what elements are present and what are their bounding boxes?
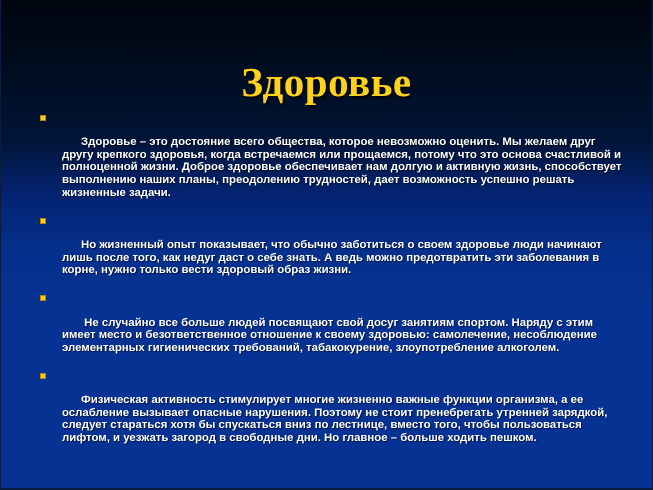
square-bullet-icon xyxy=(40,373,46,379)
list-item: Здоровье – это достояние всего общества,… xyxy=(36,111,624,212)
slide-body: Здоровье – это достояние всего общества,… xyxy=(36,111,624,459)
list-item-text: Не случайно все больше людей посвящают с… xyxy=(62,317,600,354)
square-bullet-icon xyxy=(40,218,46,224)
presentation-slide: Здоровье Здоровье – это достояние всего … xyxy=(0,0,653,490)
list-item: Но жизненный опыт показывает, что обычно… xyxy=(36,214,624,290)
square-bullet-icon xyxy=(40,115,46,121)
list-item: Не случайно все больше людей посвящают с… xyxy=(36,291,624,367)
list-item-text: Здоровье – это достояние всего общества,… xyxy=(62,136,625,198)
list-item-text: Но жизненный опыт показывает, что обычно… xyxy=(62,239,605,276)
square-bullet-icon xyxy=(40,295,46,301)
list-item-text: Физическая активность стимулирует многие… xyxy=(62,394,611,444)
page-title: Здоровье xyxy=(241,59,411,105)
list-item: Физическая активность стимулирует многие… xyxy=(36,369,624,457)
